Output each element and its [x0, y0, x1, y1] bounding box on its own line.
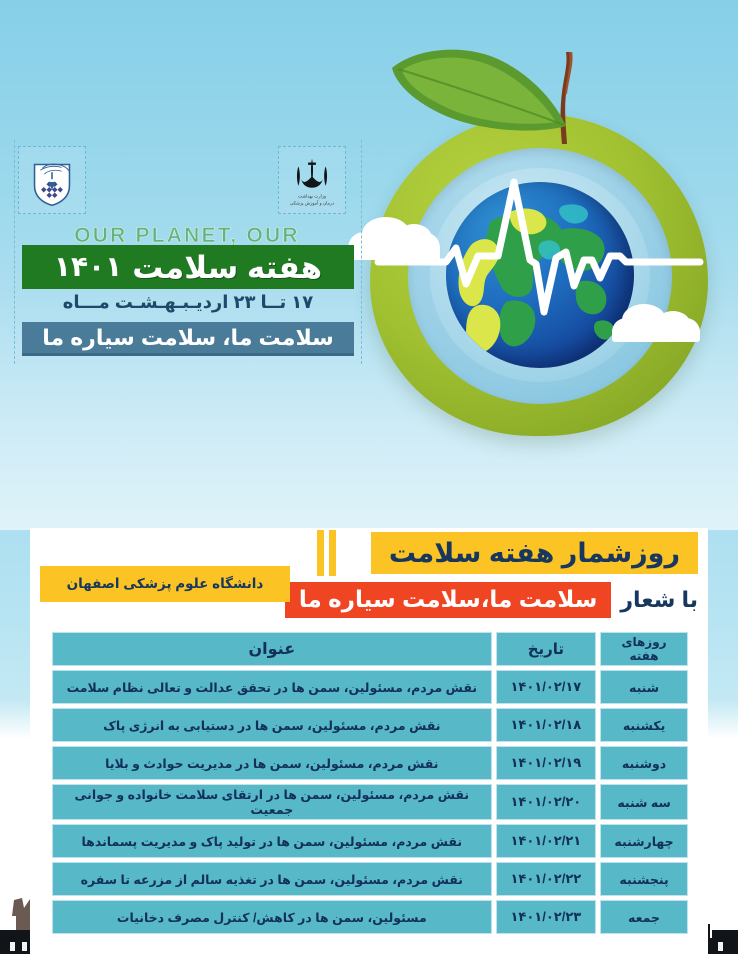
cell-day: پنجشنبه	[600, 862, 688, 896]
apple-leaf-icon	[388, 46, 572, 136]
table-row: سه شنبه ۱۴۰۱/۰۲/۲۰ نقش مردم، مسئولین، سم…	[52, 784, 688, 820]
cell-title: مسئولین، سمن ها در کاهش/ کنترل مصرف دخان…	[52, 900, 492, 934]
table-row: پنجشنبه ۱۴۰۱/۰۲/۲۲ نقش مردم، مسئولین، سم…	[52, 862, 688, 896]
health-week-title-bar: هفته سلامت ۱۴۰۱	[22, 245, 354, 289]
cell-day: دوشنبه	[600, 746, 688, 780]
svg-text:درمان و آموزش پزشکی: درمان و آموزش پزشکی	[290, 200, 334, 205]
cell-date: ۱۴۰۱/۰۲/۲۰	[496, 784, 596, 820]
health-week-schedule-table: روزهای هفته تاریخ عنوان شنبه ۱۴۰۱/۰۲/۱۷ …	[48, 628, 692, 938]
panel-slogan-prefix: با شعار	[620, 587, 698, 613]
cell-title: نقش مردم، مسئولین، سمن ها در ارتقای سلام…	[52, 784, 492, 820]
header-slogan-bar: سلامت ما، سلامت سیاره ما	[22, 322, 354, 356]
cell-day: یکشنبه	[600, 708, 688, 742]
cell-date: ۱۴۰۱/۰۲/۲۲	[496, 862, 596, 896]
isfahan-university-of-medical-sciences-logo	[18, 146, 86, 214]
cell-day: سه شنبه	[600, 784, 688, 820]
date-range: ۱۷ تــا ۲۳ اردیـبـهـشـت مـــاه	[22, 292, 354, 313]
cell-title: نقش مردم، مسئولین، سمن ها در تغذیه سالم …	[52, 862, 492, 896]
organization-badge: دانشگاه علوم پزشکی اصفهان	[40, 566, 290, 602]
cell-date: ۱۴۰۱/۰۲/۱۷	[496, 670, 596, 704]
table-row: یکشنبه ۱۴۰۱/۰۲/۱۸ نقش مردم، مسئولین، سمن…	[52, 708, 688, 742]
column-header-day: روزهای هفته	[600, 632, 688, 666]
cloud-icon	[612, 318, 700, 342]
table-row: دوشنبه ۱۴۰۱/۰۲/۱۹ نقش مردم، مسئولین، سمن…	[52, 746, 688, 780]
cell-title: نقش مردم، مسئولین، سمن ها در مدیریت حواد…	[52, 746, 492, 780]
panel-title: روزشمار هفته سلامت	[389, 540, 680, 567]
organization-name: دانشگاه علوم پزشکی اصفهان	[67, 576, 264, 592]
table-row: چهارشنبه ۱۴۰۱/۰۲/۲۱ نقش مردم، مسئولین، س…	[52, 824, 688, 858]
svg-text:وزارت بهداشت: وزارت بهداشت	[298, 193, 326, 198]
cell-date: ۱۴۰۱/۰۲/۲۱	[496, 824, 596, 858]
cell-day: چهارشنبه	[600, 824, 688, 858]
header-slogan-text: سلامت ما، سلامت سیاره ما	[42, 325, 334, 351]
iran-ministry-of-health-logo: وزارت بهداشت درمان و آموزش پزشکی	[278, 146, 346, 214]
decorative-bars-icon	[317, 530, 336, 576]
table-row: جمعه ۱۴۰۱/۰۲/۲۳ مسئولین، سمن ها در کاهش/…	[52, 900, 688, 934]
cell-title: نقش مردم، مسئولین، سمن ها در تحقق عدالت …	[52, 670, 492, 704]
health-week-year: ۱۴۰۱	[54, 253, 122, 281]
health-week-title: هفته سلامت	[132, 252, 322, 283]
apple-globe-artwork	[352, 36, 726, 446]
panel-slogan-chip: سلامت ما،سلامت سیاره ما	[285, 582, 611, 618]
health-week-poster: وزارت بهداشت درمان و آموزش پزشکی OUR PLA…	[0, 0, 738, 972]
cell-title: نقش مردم، مسئولین، سمن ها در تولید پاک و…	[52, 824, 492, 858]
cell-day: شنبه	[600, 670, 688, 704]
table-row: شنبه ۱۴۰۱/۰۲/۱۷ نقش مردم، مسئولین، سمن ه…	[52, 670, 688, 704]
cell-date: ۱۴۰۱/۰۲/۱۸	[496, 708, 596, 742]
cell-date: ۱۴۰۱/۰۲/۲۳	[496, 900, 596, 934]
cell-day: جمعه	[600, 900, 688, 934]
column-header-date: تاریخ	[496, 632, 596, 666]
panel-header: روزشمار هفته سلامت با شعار سلامت ما،سلام…	[30, 528, 708, 624]
cell-title: نقش مردم، مسئولین، سمن ها در دستیابی به …	[52, 708, 492, 742]
cloud-icon	[348, 232, 440, 260]
panel-title-badge: روزشمار هفته سلامت	[371, 532, 698, 574]
schedule-panel: روزشمار هفته سلامت با شعار سلامت ما،سلام…	[30, 528, 708, 958]
table-header-row: روزهای هفته تاریخ عنوان	[52, 632, 688, 666]
panel-slogan: با شعار سلامت ما،سلامت سیاره ما	[285, 582, 698, 618]
column-header-title: عنوان	[52, 632, 492, 666]
cell-date: ۱۴۰۱/۰۲/۱۹	[496, 746, 596, 780]
